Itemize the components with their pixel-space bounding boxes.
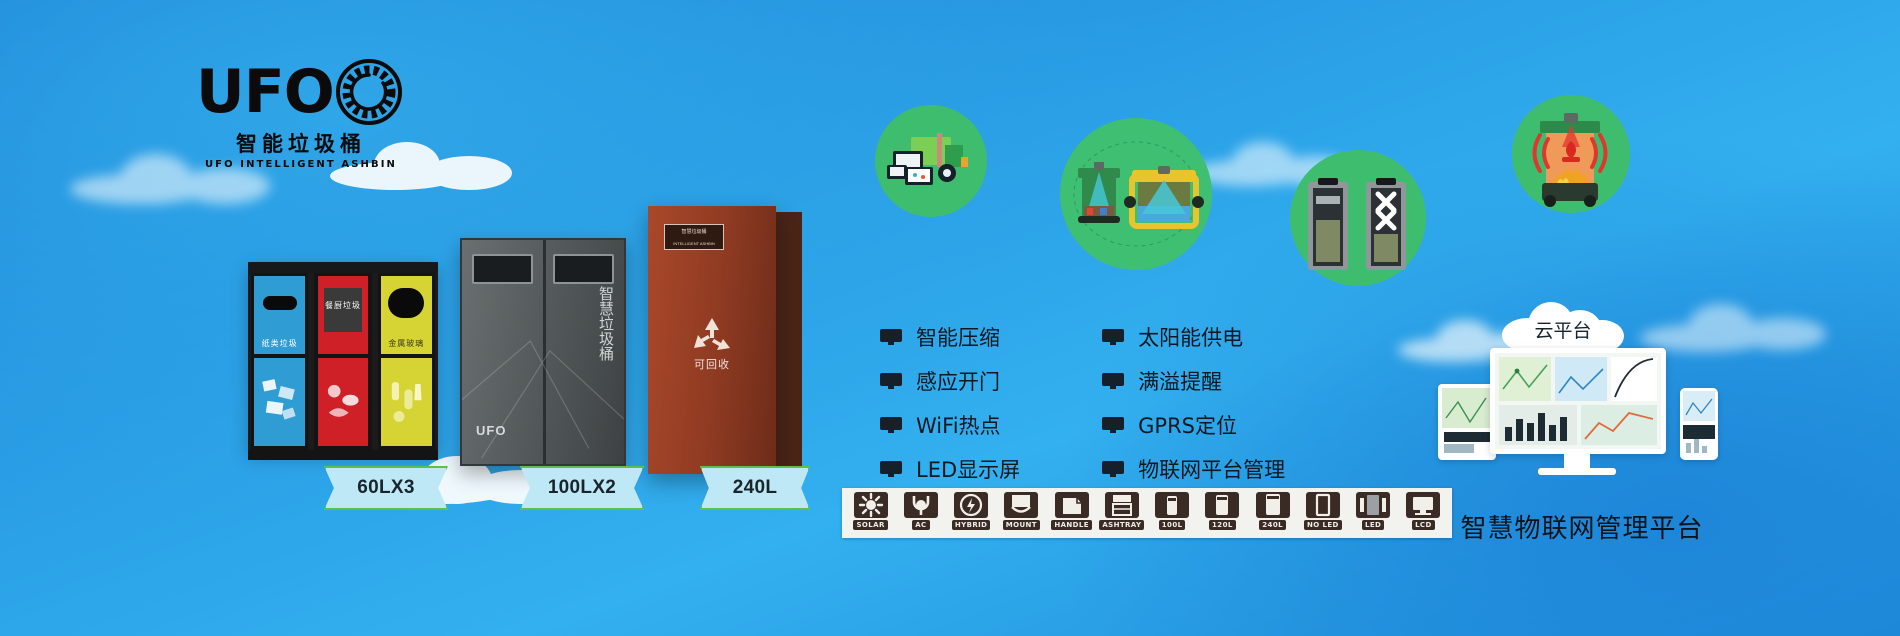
spec-icon-hybrid: HYBRID <box>948 492 995 534</box>
bin-fill-sensor-icon <box>1060 118 1212 270</box>
spec-label: LED <box>1362 520 1384 530</box>
plate-line-1: 智慧垃圾桶 <box>665 229 723 236</box>
bin-240l-icon <box>1256 492 1290 518</box>
feature-list: 智能压缩 感应开门 WiFi热点 LED显示屏 太阳能供电 满溢提醒 GPRS定… <box>880 322 1285 484</box>
spec-label: AC <box>912 520 929 530</box>
led-panel-icon <box>1356 492 1390 518</box>
feature-label: GPRS定位 <box>1138 410 1237 440</box>
phone-dashboard-icon <box>1683 391 1715 457</box>
monitor-bullet-icon <box>1102 461 1124 477</box>
recyclable-bin: 智慧垃圾桶 INTELLIGENT ASHBIN 可回收 <box>648 206 776 474</box>
bin-fire-alarm-icon <box>1512 95 1630 213</box>
feature-label: LED显示屏 <box>916 454 1020 484</box>
feature-item: 物联网平台管理 <box>1102 454 1285 484</box>
monitor-bullet-icon <box>1102 417 1124 433</box>
plate-line-2: INTELLIGENT ASHBIN <box>665 240 723 247</box>
spec-icon-120l: 120L <box>1199 492 1246 534</box>
spec-label: MOUNT <box>1003 520 1040 530</box>
bin-display-screen <box>472 254 534 284</box>
no-led-panel-icon <box>1306 492 1340 518</box>
spec-label: HANDLE <box>1051 520 1092 530</box>
spec-label: ASHTRAY <box>1099 520 1144 530</box>
feature-item: LED显示屏 <box>880 454 1020 484</box>
bin-brand-mark: UFO <box>476 423 506 438</box>
sun-icon <box>854 492 888 518</box>
recyclable-label: 可回收 <box>648 356 776 372</box>
dual-bin-compaction-icon <box>1290 150 1426 286</box>
capacity-badge-100lx2: 100LX2 <box>520 466 644 510</box>
handle-icon <box>1055 492 1089 518</box>
tablet-device <box>1438 384 1496 460</box>
feature-label: 太阳能供电 <box>1138 322 1243 352</box>
bin-name-plate: 智慧垃圾桶 INTELLIGENT ASHBIN <box>664 224 724 250</box>
kitchen-waste-illustration <box>318 358 368 446</box>
hybrid-power-icon <box>954 492 988 518</box>
spec-label: SOLAR <box>853 520 887 530</box>
spec-icon-mount: MOUNT <box>998 492 1045 534</box>
power-plug-icon <box>904 492 938 518</box>
feature-item: 太阳能供电 <box>1102 322 1285 352</box>
tablet-dashboard-icon <box>1442 388 1492 456</box>
monitor-bullet-icon <box>880 373 902 389</box>
bin-compartment-paper: 纸类垃圾 <box>248 262 311 452</box>
metal-glass-waste-illustration <box>381 358 431 446</box>
spec-icon-100l: 100L <box>1149 492 1196 534</box>
spec-label: NO LED <box>1304 520 1342 530</box>
feature-label: 智能压缩 <box>916 322 1000 352</box>
compaction-circle <box>1290 150 1426 286</box>
feature-label: 物联网平台管理 <box>1138 454 1285 484</box>
feature-item: 智能压缩 <box>880 322 1020 352</box>
fire-alarm-circle <box>1512 95 1630 213</box>
bin-display-screen <box>553 254 615 284</box>
monitor-bullet-icon <box>880 461 902 477</box>
desktop-monitor <box>1490 348 1666 454</box>
compartment-label: 纸类垃圾 <box>254 338 304 349</box>
paper-waste-illustration <box>254 358 304 446</box>
spec-label: HYBRID <box>952 520 990 530</box>
feature-item: GPRS定位 <box>1102 410 1285 440</box>
feature-label: WiFi热点 <box>916 410 1001 440</box>
compartment-label: 餐厨垃圾 <box>318 300 368 311</box>
spec-icon-handle: HANDLE <box>1048 492 1095 534</box>
iot-platform-devices <box>1432 348 1722 498</box>
logo-wordmark: UFO <box>196 63 334 121</box>
spec-icon-240l: 240L <box>1249 492 1296 534</box>
bin-compartment-metal-glass: 金属玻璃 <box>375 262 438 452</box>
bin-120l-icon <box>1205 492 1239 518</box>
logo-chinese-name: 智能垃圾桶 <box>196 128 406 158</box>
compartment-face: 纸类垃圾 <box>254 276 304 354</box>
platform-title: 智慧物联网管理平台 <box>1432 508 1732 545</box>
wall-mount-icon <box>1004 492 1038 518</box>
bin-compartment-kitchen: 餐厨垃圾 <box>311 262 374 452</box>
spec-icon-strip: SOLAR AC HYBRID MOUNT HANDLE ASHTRAY <box>842 488 1452 538</box>
capacity-badge-240l: 240L <box>700 466 810 510</box>
ufo-ring-icon <box>336 59 402 125</box>
garbage-truck-with-dashboard-icon <box>875 105 987 217</box>
capacity-badge-60lx3: 60LX3 <box>324 466 448 510</box>
bin-vertical-label: 智慧垃圾桶 <box>598 286 614 361</box>
cloud-platform-label: 云平台 <box>1502 316 1624 343</box>
smart-compacting-bin: 智慧垃圾桶 UFO <box>460 238 626 466</box>
feature-column-left: 智能压缩 感应开门 WiFi热点 LED显示屏 <box>880 322 1020 484</box>
spec-icon-ashtray: ASHTRAY <box>1098 492 1145 534</box>
compartment-label: 金属玻璃 <box>381 338 431 349</box>
cloud-platform-badge: 云平台 <box>1502 300 1624 352</box>
spec-label: 120L <box>1209 520 1236 530</box>
compartment-face: 餐厨垃圾 <box>318 276 368 354</box>
capacity-label: 60LX3 <box>357 477 414 499</box>
logo-english-name: UFO INTELLIGENT ASHBIN <box>196 159 406 170</box>
spec-label: 240L <box>1259 520 1286 530</box>
feature-item: WiFi热点 <box>880 410 1020 440</box>
smartphone-device <box>1680 388 1718 460</box>
monitor-bullet-icon <box>1102 373 1124 389</box>
fleet-monitoring-circle <box>875 105 987 217</box>
spec-icon-ac: AC <box>897 492 944 534</box>
feature-label: 感应开门 <box>916 366 1000 396</box>
feature-item: 满溢提醒 <box>1102 366 1285 396</box>
feature-column-right: 太阳能供电 满溢提醒 GPRS定位 物联网平台管理 <box>1102 322 1285 484</box>
capacity-label: 240L <box>733 477 778 499</box>
three-compartment-bin: 纸类垃圾 餐厨垃圾 金属玻璃 <box>248 262 438 452</box>
feature-item: 感应开门 <box>880 366 1020 396</box>
spec-icon-solar: SOLAR <box>847 492 894 534</box>
capacity-label: 100LX2 <box>548 477 616 499</box>
spec-icon-led: LED <box>1350 492 1397 534</box>
ashtray-icon <box>1105 492 1139 518</box>
monitor-bullet-icon <box>1102 329 1124 345</box>
monitor-dashboard-icon <box>1495 353 1661 449</box>
recycle-symbol-icon <box>688 314 736 356</box>
fill-level-sensor-circle <box>1060 118 1212 270</box>
feature-label: 满溢提醒 <box>1138 366 1222 396</box>
monitor-bullet-icon <box>880 329 902 345</box>
bin-100l-icon <box>1155 492 1189 518</box>
spec-icon-no-led: NO LED <box>1299 492 1346 534</box>
compartment-face: 金属玻璃 <box>381 276 431 354</box>
brand-logo: UFO 智能垃圾桶 UFO INTELLIGENT ASHBIN <box>196 58 406 163</box>
monitor-bullet-icon <box>880 417 902 433</box>
spec-label: 100L <box>1159 520 1186 530</box>
